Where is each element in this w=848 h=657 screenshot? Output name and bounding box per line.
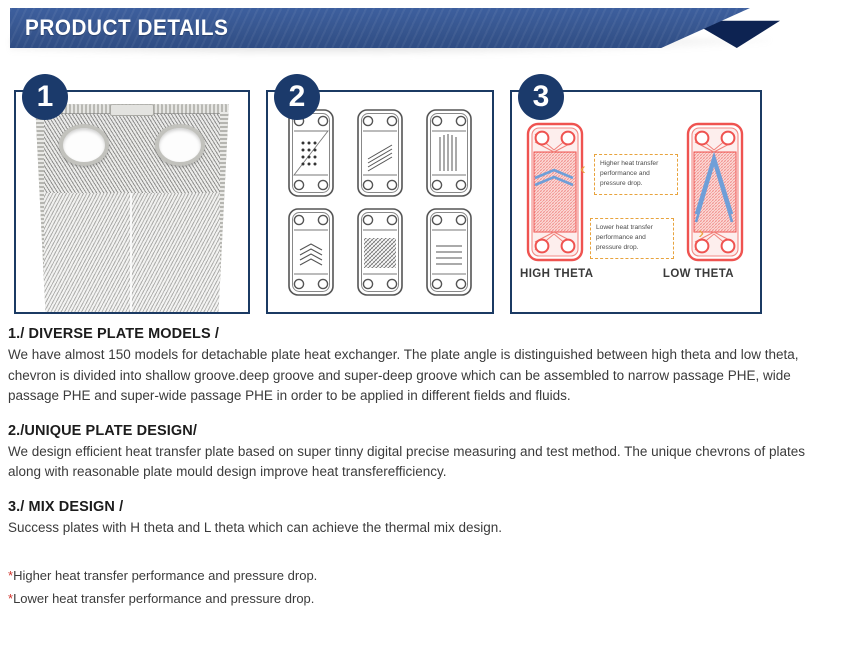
high-theta-plate [526,122,584,262]
plate-port-right [155,124,205,166]
section-body-3: Success plates with H theta and L theta … [8,518,836,539]
product-description: 1./ DIVERSE PLATE MODELS / We have almos… [0,326,848,611]
plate-model-dense-hatch [354,206,406,298]
plate-model-diagonal [354,107,406,199]
plate-port-left [59,124,109,166]
panel-badge-1: 1 [22,74,68,120]
plate-model-chevron [285,206,337,298]
plate-model-vertical-groove [423,107,475,199]
panel-row: 1 [0,74,848,320]
section-heading-3: 3./ MIX DESIGN / [8,499,840,515]
page-title: PRODUCT DETAILS [10,15,228,41]
high-theta-callout: Higher heat transfer performance and pre… [594,154,678,195]
panel-badge-3: 3 [518,74,564,120]
section-body-1: We have almost 150 models for detachable… [8,345,836,407]
footnote-2-text: Lower heat transfer performance and pres… [13,591,314,606]
low-theta-callout: Lower heat transfer performance and pres… [590,218,674,259]
section-body-2: We design efficient heat transfer plate … [8,442,836,483]
footnote-2: *Lower heat transfer performance and pre… [8,588,840,609]
theta-comparison-panel: HIGH THETA [510,90,762,314]
plate-model-dimple [285,107,337,199]
plate-model-horizontal-band [423,206,475,298]
plate-photo-panel [14,90,250,314]
plate-photo-image [16,92,248,312]
product-details-page: PRODUCT DETAILS 1 [0,0,848,657]
plate-models-panel [266,90,494,314]
high-theta-label: HIGH THETA [520,268,593,280]
section-heading-2: 2./UNIQUE PLATE DESIGN/ [8,423,840,439]
footnote-1-text: Higher heat transfer performance and pre… [13,568,317,583]
footnote-1: *Higher heat transfer performance and pr… [8,565,840,586]
low-theta-marker-icon: › [698,224,704,241]
page-header-banner: PRODUCT DETAILS [0,8,848,56]
theta-diagram: HIGH THETA [512,92,760,312]
panel-badge-2: 2 [274,74,320,120]
plate-model-grid [268,92,492,312]
high-theta-marker-icon: ‹ [580,160,586,177]
low-theta-plate [686,122,744,262]
banner-body: PRODUCT DETAILS [10,8,750,48]
low-theta-label: LOW THETA [663,268,734,280]
section-heading-1: 1./ DIVERSE PLATE MODELS / [8,326,840,342]
